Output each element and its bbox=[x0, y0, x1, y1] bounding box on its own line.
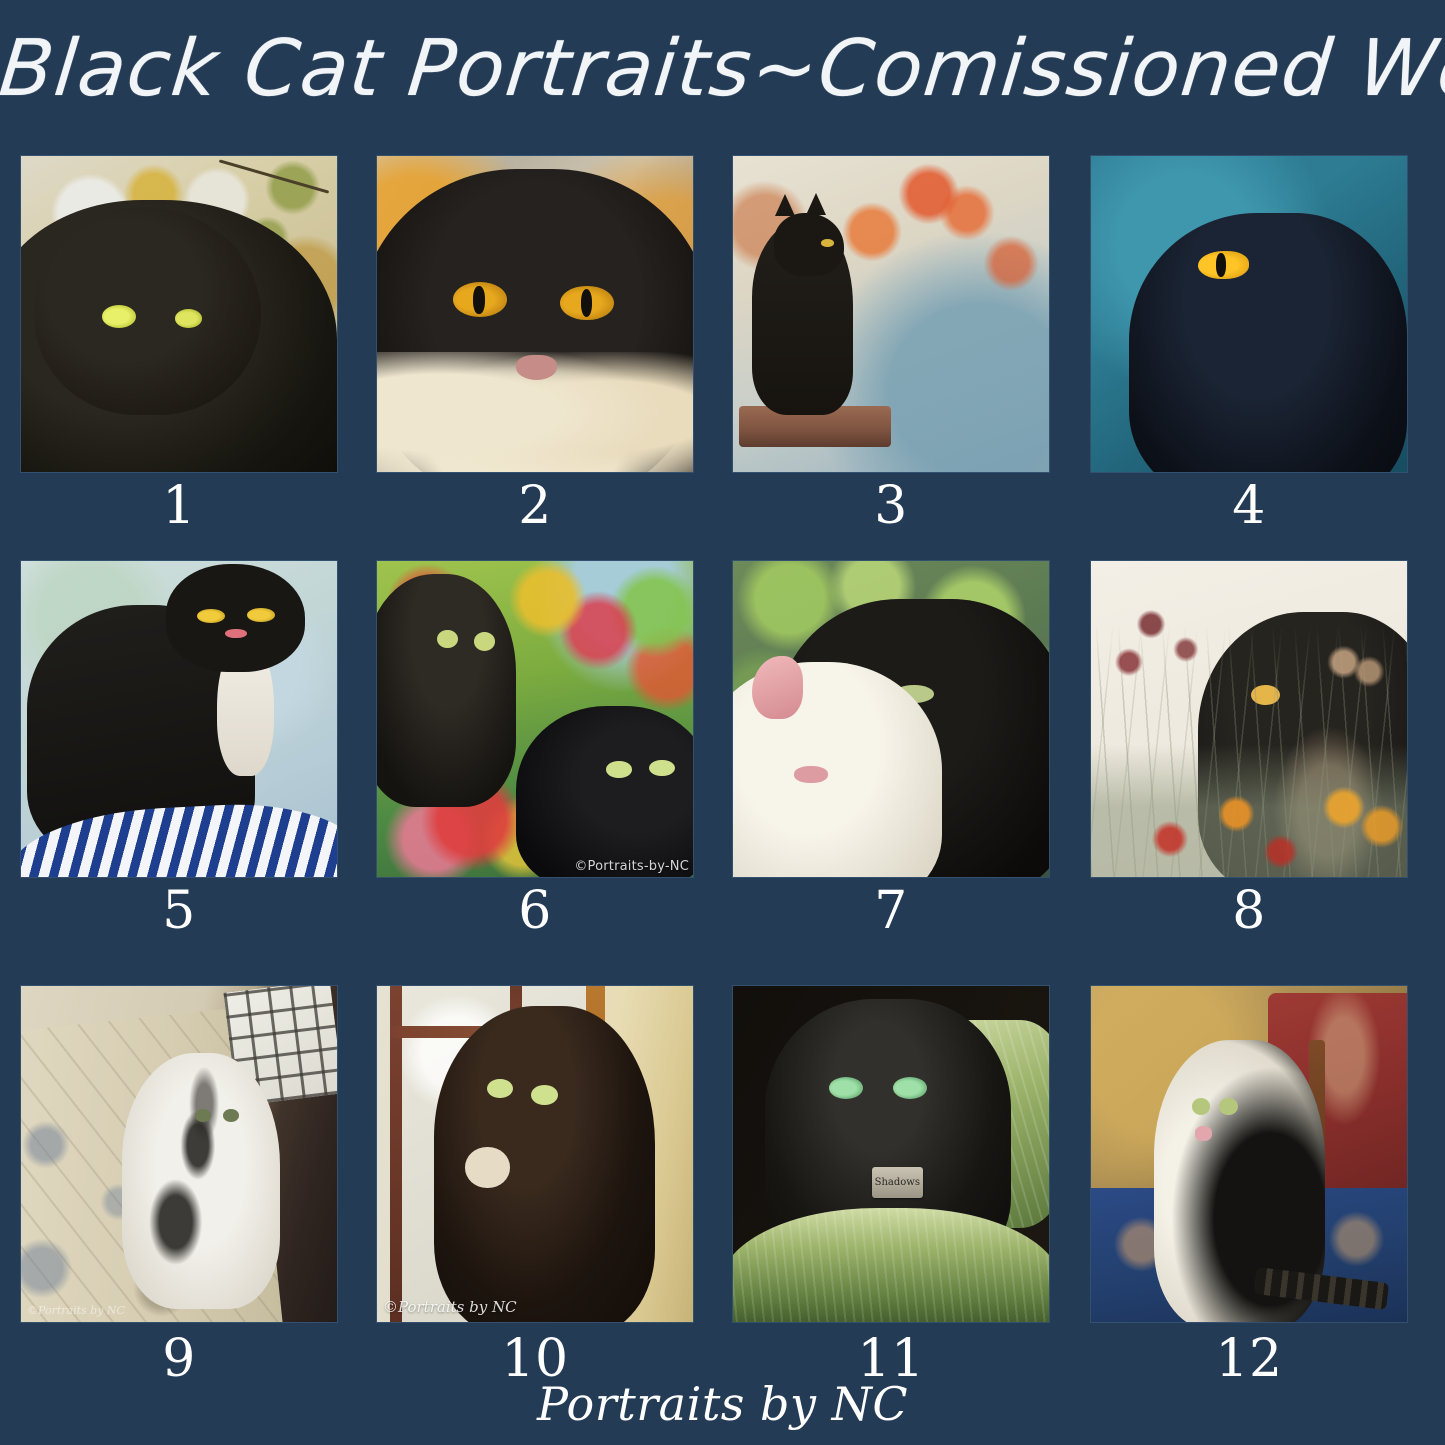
cat-eye-left bbox=[606, 761, 631, 777]
gallery-item-8[interactable]: 8 bbox=[1090, 560, 1408, 878]
gallery-item-2[interactable]: 2 bbox=[376, 155, 694, 473]
cat-pupil-left bbox=[473, 286, 485, 314]
portrait-number-7: 7 bbox=[732, 882, 1050, 940]
portrait-thumbnail-12[interactable] bbox=[1090, 985, 1408, 1323]
portrait-number-2: 2 bbox=[376, 477, 694, 535]
cat-portrait-artwork-2 bbox=[377, 156, 693, 472]
portrait-number-9: 9 bbox=[20, 1330, 338, 1388]
wildflower-layer bbox=[1091, 561, 1407, 877]
cat-eye bbox=[821, 239, 834, 247]
poster-canvas: Black Cat Portraits~Comissioned Work 1 bbox=[0, 0, 1445, 1445]
cat-portrait-artwork-3 bbox=[733, 156, 1049, 472]
cat-pupil-right bbox=[581, 289, 593, 317]
cat-portrait-artwork-6: ©Portraits-by-NC bbox=[377, 561, 693, 877]
gallery-item-4[interactable]: 4 bbox=[1090, 155, 1408, 473]
cat-pupil bbox=[1216, 253, 1226, 277]
portrait-thumbnail-5[interactable] bbox=[20, 560, 338, 878]
cat-eye-right bbox=[560, 286, 614, 321]
cat-eye bbox=[1198, 251, 1249, 279]
cat-nose bbox=[794, 766, 829, 783]
gallery-item-11[interactable]: Shadows 11 bbox=[732, 985, 1050, 1323]
cat-portrait-artwork-4 bbox=[1091, 156, 1407, 472]
green-velvet-cushion bbox=[732, 1208, 1050, 1323]
cat-body-shape bbox=[122, 1053, 280, 1308]
portrait-thumbnail-6[interactable]: ©Portraits-by-NC bbox=[376, 560, 694, 878]
cat-eye-right bbox=[474, 632, 495, 651]
gallery-item-9[interactable]: ©Portraits by NC 9 bbox=[20, 985, 338, 1323]
cat-eye-left bbox=[1192, 1098, 1211, 1115]
cat-head-shape bbox=[1129, 213, 1407, 473]
gallery-item-7[interactable]: 7 bbox=[732, 560, 1050, 878]
portrait-number-8: 8 bbox=[1090, 882, 1408, 940]
portrait-number-4: 4 bbox=[1090, 477, 1408, 535]
cat-eye-right bbox=[893, 1077, 928, 1099]
cat-eye-right bbox=[649, 760, 674, 776]
cat-nose bbox=[225, 629, 247, 639]
portrait-thumbnail-1[interactable] bbox=[20, 155, 338, 473]
cat-white-patch bbox=[465, 1147, 509, 1187]
cat-portrait-artwork-5 bbox=[21, 561, 337, 877]
portrait-thumbnail-4[interactable] bbox=[1090, 155, 1408, 473]
portrait-number-3: 3 bbox=[732, 477, 1050, 535]
cat-eye-left bbox=[195, 1109, 211, 1122]
image-watermark: ©Portraits by NC bbox=[27, 1304, 125, 1317]
cat-head-shape bbox=[166, 564, 305, 671]
gallery-item-1[interactable]: 1 bbox=[20, 155, 338, 473]
cat-eye-right bbox=[223, 1109, 239, 1122]
portrait-thumbnail-11[interactable]: Shadows bbox=[732, 985, 1050, 1323]
portrait-thumbnail-9[interactable]: ©Portraits by NC bbox=[20, 985, 338, 1323]
cat-portrait-artwork-10: ©Portraits by NC bbox=[377, 986, 693, 1322]
portrait-gallery-grid: 1 2 bbox=[0, 155, 1445, 1445]
cat-eye-right bbox=[1219, 1098, 1238, 1115]
gallery-item-12[interactable]: 12 bbox=[1090, 985, 1408, 1323]
gallery-item-6[interactable]: ©Portraits-by-NC 6 bbox=[376, 560, 694, 878]
cat-eye-right bbox=[247, 608, 275, 622]
cat-portrait-artwork-1 bbox=[21, 156, 337, 472]
cat-nose bbox=[1195, 1126, 1212, 1140]
portrait-number-5: 5 bbox=[20, 882, 338, 940]
collar-name-tag: Shadows bbox=[872, 1167, 923, 1197]
portrait-number-11: 11 bbox=[732, 1330, 1050, 1388]
portrait-thumbnail-7[interactable] bbox=[732, 560, 1050, 878]
portrait-thumbnail-2[interactable] bbox=[376, 155, 694, 473]
portrait-number-1: 1 bbox=[20, 477, 338, 535]
portrait-number-6: 6 bbox=[376, 882, 694, 940]
portrait-thumbnail-3[interactable] bbox=[732, 155, 1050, 473]
gallery-item-3[interactable]: 3 bbox=[732, 155, 1050, 473]
page-title: Black Cat Portraits~Comissioned Work bbox=[0, 14, 1445, 124]
portrait-thumbnail-10[interactable]: ©Portraits by NC bbox=[376, 985, 694, 1323]
cat-portrait-artwork-8 bbox=[1091, 561, 1407, 877]
cat-portrait-artwork-11: Shadows bbox=[733, 986, 1049, 1322]
image-watermark: ©Portraits-by-NC bbox=[574, 859, 689, 874]
cat-eye-left bbox=[453, 282, 507, 317]
cat-eye-left bbox=[437, 630, 458, 649]
gallery-item-10[interactable]: ©Portraits by NC 10 bbox=[376, 985, 694, 1323]
cat-portrait-artwork-7 bbox=[733, 561, 1049, 877]
cat-eye-left bbox=[487, 1079, 514, 1099]
portrait-number-12: 12 bbox=[1090, 1330, 1408, 1388]
cat-eye-left bbox=[197, 609, 225, 623]
cat-eye-left bbox=[829, 1077, 864, 1099]
cat-body-shape-upper bbox=[376, 574, 516, 808]
portrait-thumbnail-8[interactable] bbox=[1090, 560, 1408, 878]
gallery-item-5[interactable]: 5 bbox=[20, 560, 338, 878]
portrait-number-10: 10 bbox=[376, 1330, 694, 1388]
cat-eye-right bbox=[531, 1085, 558, 1105]
cat-portrait-artwork-12 bbox=[1091, 986, 1407, 1322]
cat-eye-left bbox=[102, 305, 136, 328]
cat-head-shape bbox=[774, 213, 844, 276]
cat-portrait-artwork-9: ©Portraits by NC bbox=[21, 986, 337, 1322]
cat-ear-right bbox=[806, 193, 826, 215]
image-watermark: ©Portraits by NC bbox=[383, 1298, 517, 1316]
cat-body-shape-lower bbox=[516, 706, 694, 878]
cat-ear-left bbox=[775, 194, 795, 216]
cat-eye-right bbox=[175, 309, 202, 328]
